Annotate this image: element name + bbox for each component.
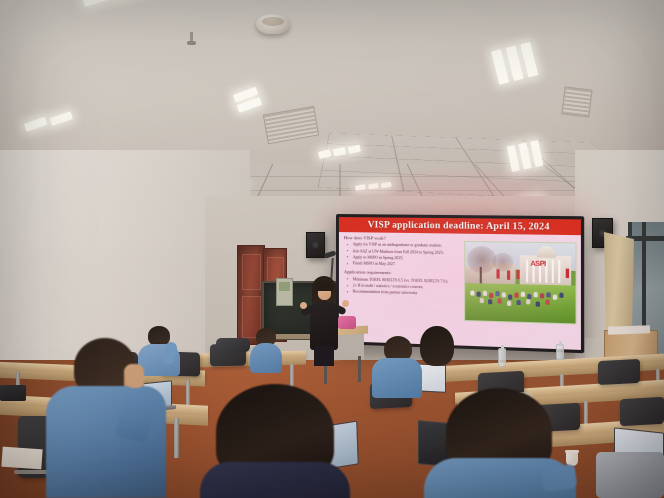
classroom-chair[interactable] (620, 397, 664, 426)
student-torso (372, 358, 422, 398)
presenter-hand-left (300, 302, 307, 309)
wall-mounted-presentation-screen[interactable]: VISP application deadline: April 15, 202… (336, 214, 584, 353)
notebook[interactable] (1, 447, 42, 470)
water-bottle[interactable] (556, 344, 564, 360)
presenter-legs (314, 346, 334, 366)
slide-bullets-how-it-works: Apply for VISP as an undergraduate or gr… (344, 242, 457, 269)
water-bottle[interactable] (498, 348, 506, 367)
air-vent (561, 86, 592, 117)
classroom-chair[interactable] (598, 359, 640, 385)
presenter-speaker[interactable] (300, 276, 348, 364)
student-center-dark[interactable] (416, 326, 460, 376)
wall-speaker-left (306, 232, 325, 258)
slide-title: VISP application deadline: April 15, 202… (368, 220, 550, 232)
screen-bezel: VISP application deadline: April 15, 202… (336, 214, 584, 353)
slide-body-text: How does VISP work? Apply for VISP as an… (344, 235, 457, 301)
student-torso (250, 343, 282, 373)
slide-bullet: Recommendation from partner university (350, 290, 457, 298)
student-torso (200, 462, 350, 498)
backpack[interactable] (216, 338, 250, 352)
student-hand (126, 368, 144, 388)
bascom-hill-campus-photo: ASPI (464, 241, 576, 325)
student-front-left[interactable] (46, 338, 162, 498)
desk-leg (174, 418, 179, 458)
photo-sign-text: ASPI (530, 261, 545, 269)
slide-bullet: Finish MSPO in May 2027. (350, 262, 457, 269)
student-back-left[interactable] (248, 328, 284, 370)
slide-heading-how-it-works: How does VISP work? (344, 235, 457, 242)
wall-control-panel-box[interactable] (276, 278, 293, 306)
student-hair (420, 326, 454, 366)
student-foreground-right[interactable] (424, 388, 574, 498)
podium-leg (358, 356, 361, 382)
slide-title-bar: VISP application deadline: April 15, 202… (339, 217, 581, 235)
classroom-presentation-scene: VISP application deadline: April 15, 202… (0, 0, 664, 498)
papers-on-cabinet[interactable] (608, 325, 650, 334)
sprinkler-head (190, 32, 193, 44)
air-vent (263, 106, 319, 145)
presenter-fringe (315, 281, 334, 291)
presenter-hand-right (342, 300, 349, 307)
student-foreground-center[interactable] (200, 384, 350, 498)
photo-tree (492, 253, 513, 272)
slide-bullets-requirements: Minimum TOEFL 80/IELTS 6.5 (vs. TOEFL 92… (344, 277, 457, 298)
smoke-detector (256, 14, 290, 34)
backpack[interactable] (596, 452, 664, 498)
laptop[interactable] (0, 385, 26, 401)
student-arm (540, 464, 577, 492)
